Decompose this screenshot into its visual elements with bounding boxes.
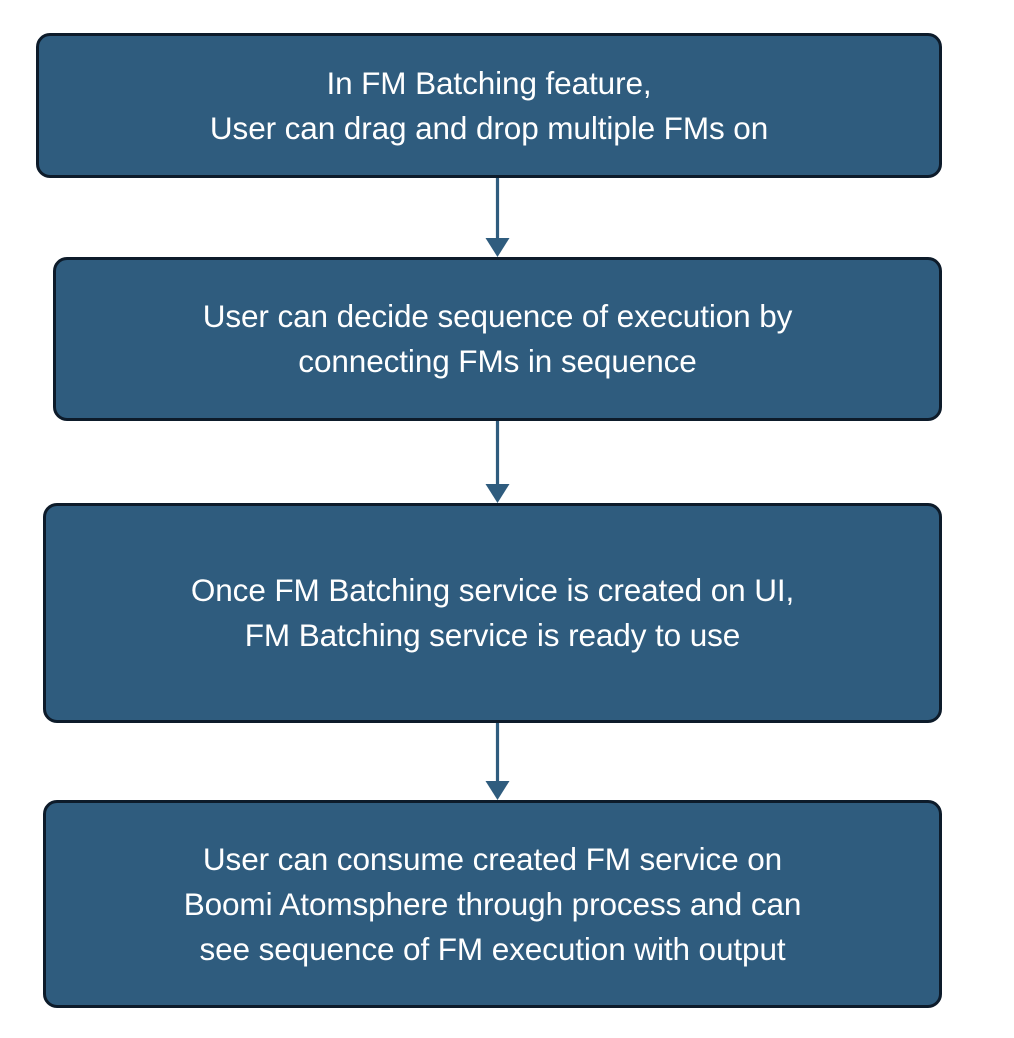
flowchart-node-service-created-step[interactable]: Once FM Batching service is created on U… bbox=[43, 503, 942, 723]
arrow-node1-to-node2 bbox=[486, 178, 510, 257]
arrowhead-icon bbox=[486, 484, 510, 503]
arrow-node3-to-node4 bbox=[486, 723, 510, 800]
flowchart-node-sequence-of-execution-step[interactable]: User can decide sequence of execution by… bbox=[53, 257, 942, 421]
flowchart-node-consume-service-step[interactable]: User can consume created FM service on B… bbox=[43, 800, 942, 1008]
flowchart-node-fm-batching-feature-step[interactable]: In FM Batching feature, User can drag an… bbox=[36, 33, 942, 178]
flowchart-canvas: In FM Batching feature, User can drag an… bbox=[0, 0, 1014, 1038]
arrowhead-icon bbox=[486, 238, 510, 257]
arrow-node2-to-node3 bbox=[486, 421, 510, 503]
arrowhead-icon bbox=[486, 781, 510, 800]
